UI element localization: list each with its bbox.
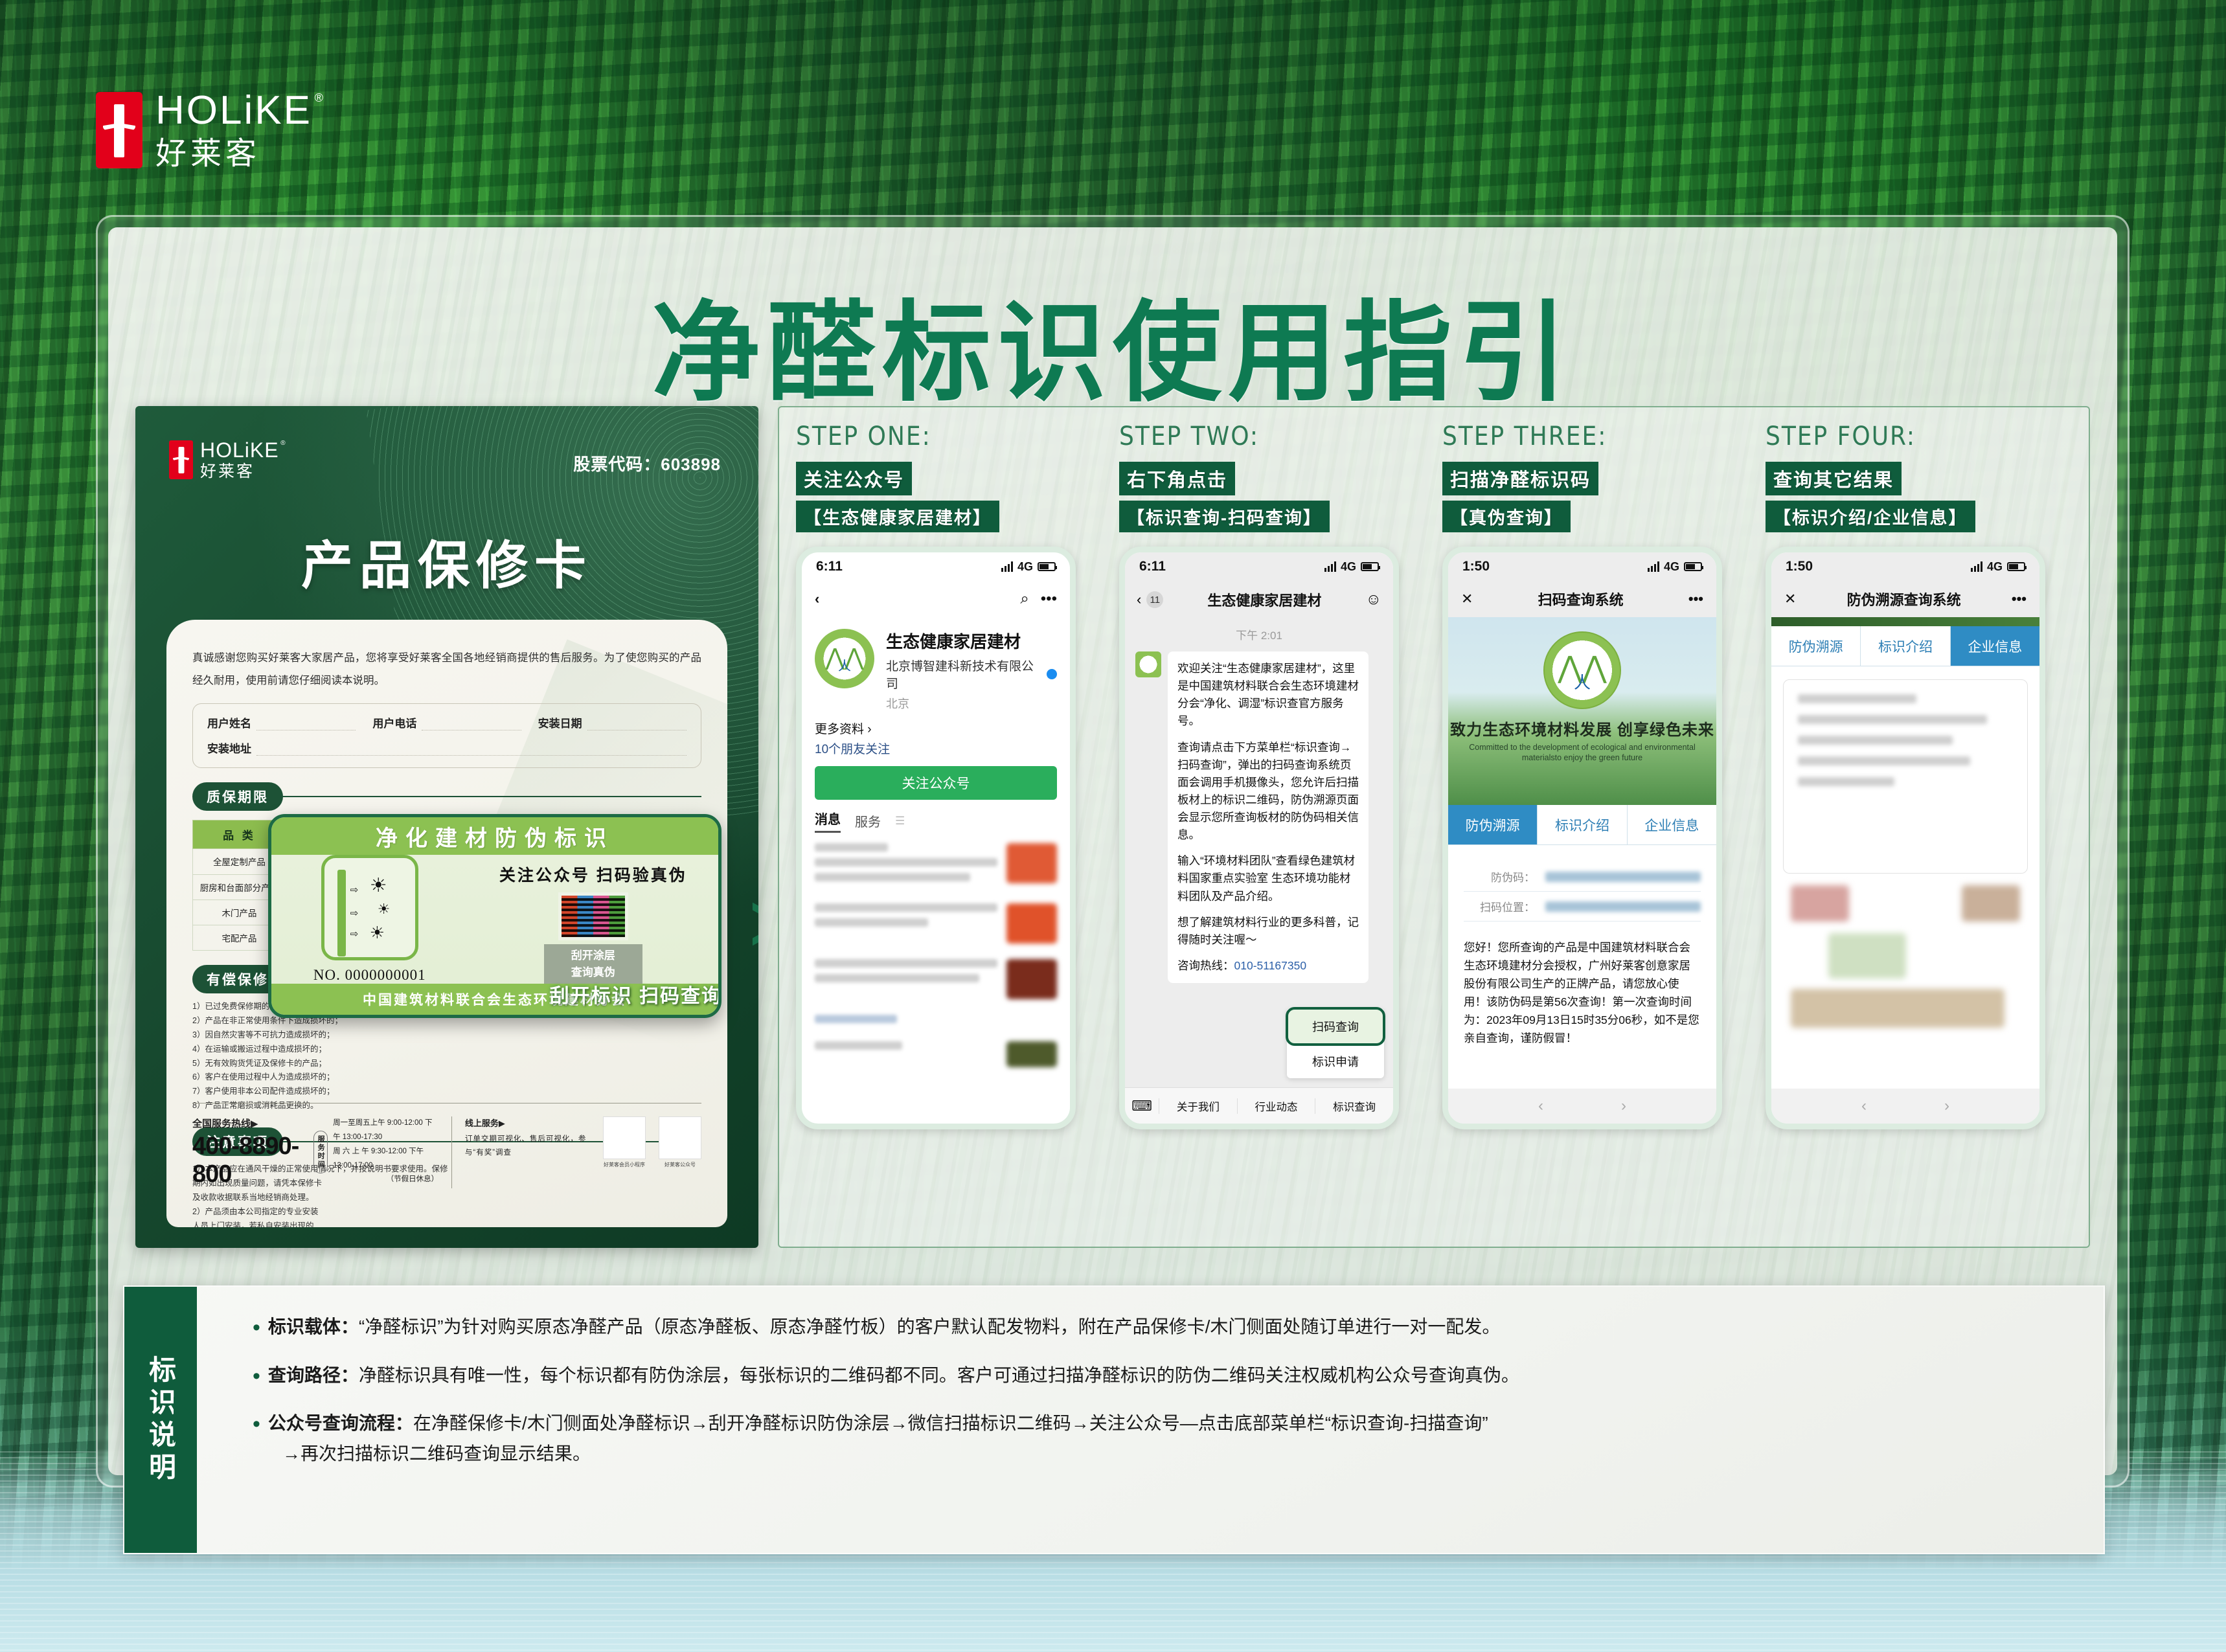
card-footer: 全国服务热线▶ 400-8890-800 服务时间 周一至周五上午 9:00-1… bbox=[192, 1103, 701, 1188]
steps-row: STEP ONE: 关注公众号 【生态健康家居建材】 6:11 4G bbox=[796, 422, 2072, 1129]
menu-popup: 扫码查询 标识申请 bbox=[1287, 1008, 1384, 1078]
list-item: 2）产品须由本公司指定的专业安装 bbox=[192, 1205, 701, 1219]
webview-tabs: 防伪溯源 标识介绍 企业信息 bbox=[1771, 626, 2039, 666]
tab-company-info[interactable]: 企业信息 bbox=[1628, 805, 1716, 844]
list-item: 人员上门安装，若私自安装出现的 bbox=[192, 1219, 701, 1227]
network-type: 4G bbox=[1987, 560, 2003, 574]
label-right: 关注公众号 扫码验真伪 刮开涂层 查询真伪 bbox=[468, 855, 718, 984]
unread-badge: 11 bbox=[1146, 591, 1163, 608]
card-registered-icon: ® bbox=[280, 440, 286, 447]
chevron-right-icon: › bbox=[867, 723, 871, 736]
query-result-text: 您好！您所查询的产品是中国建筑材料联合会生态环境建材分会授权，广州好莱客创意家居… bbox=[1448, 922, 1716, 1047]
scratch-hint-line2: 查询真伪 bbox=[544, 964, 642, 981]
card-brand-cn: 好莱客 bbox=[200, 464, 279, 480]
label-overlay-callout: 刮开标识 扫码查询 bbox=[550, 980, 721, 1008]
phone-screenshot-one: 6:11 4G ‹ ⌕ bbox=[796, 547, 1076, 1129]
qr-caption: 好莱客公众号 bbox=[659, 1161, 701, 1168]
hero-slogan-cn: 致力生态环境材料发展 创享绿色未来 bbox=[1450, 717, 1714, 740]
chat-nav-bar: ‹ 11 生态健康家居建材 ☺ bbox=[1125, 581, 1393, 618]
service-time-block: 服务时间 周一至周五上午 9:00-12:00 下午 13:00-17:30 周… bbox=[313, 1116, 438, 1187]
note-bold-label: 标识载体： bbox=[268, 1317, 359, 1337]
network-type: 4G bbox=[1664, 560, 1679, 574]
scratch-hint: 刮开涂层 查询真伪 bbox=[544, 944, 642, 984]
list-item: 3）因自然灾害等不可抗力造成损坏的； bbox=[192, 1028, 701, 1043]
step-three-tag-1: 扫描净醛标识码 bbox=[1442, 462, 1598, 495]
arrow-glyph-icon: ⇨ bbox=[350, 907, 359, 919]
step-two-tag-2: 【标识查询-扫码查询】 bbox=[1119, 501, 1330, 532]
list-item[interactable] bbox=[815, 903, 1057, 944]
label-explanation-body: • 标识载体：“净醛标识”为针对购买原态净醛产品（原态净醛板、原态净醛竹板）的客… bbox=[197, 1287, 2104, 1553]
phone-screenshot-three: 1:50 4G ✕ 扫码查询系统 ••• bbox=[1442, 547, 1722, 1129]
step-three-tag-2: 【真伪查询】 bbox=[1442, 501, 1571, 532]
label-qr-code-icon[interactable] bbox=[558, 892, 628, 940]
step-three: STEP THREE: 扫描净醛标识码 【真伪查询】 1:50 4G bbox=[1442, 422, 1749, 1129]
more-icon[interactable]: ••• bbox=[2012, 591, 2027, 607]
customer-field-box: 用户姓名 用户电话 安装日期 安装地址 bbox=[192, 703, 701, 768]
list-item[interactable] bbox=[815, 843, 1057, 888]
chat-timestamp: 下午 2:01 bbox=[1125, 618, 1393, 651]
steps-panel: STEP ONE: 关注公众号 【生态健康家居建材】 6:11 4G bbox=[778, 406, 2090, 1248]
tab-anticounterfeit-trace[interactable]: 防伪溯源 bbox=[1771, 626, 1861, 666]
section-warranty-title: 质保期限 bbox=[192, 782, 283, 811]
field-input-name[interactable] bbox=[256, 719, 356, 730]
warranty-intro: 真诚感谢您购买好莱客大家居产品，您将享受好莱客全国各地经销商提供的售后服务。为了… bbox=[192, 647, 701, 692]
back-icon[interactable]: ‹ bbox=[815, 591, 819, 607]
service-time-row: 周一至周五上午 9:00-12:00 下午 13:00-17:30 bbox=[333, 1116, 438, 1145]
step-four-tag-2: 【标识介绍/企业信息】 bbox=[1766, 501, 1975, 532]
qr-caption: 好莱客会员小程序 bbox=[603, 1161, 646, 1168]
note-item-flow: • 公众号查询流程：在净醛保修卡/木门侧面处净醛标识→刮开净醛标识防伪涂层→微信… bbox=[253, 1410, 2062, 1437]
sun-icon: ☀ bbox=[370, 924, 385, 941]
field-row-2: 安装地址 bbox=[207, 740, 687, 756]
network-type: 4G bbox=[1341, 560, 1356, 574]
note-item-flow-continued: →再次扫描标识二维码查询显示结果。 bbox=[282, 1440, 2062, 1465]
sun-icon: ☀ bbox=[378, 902, 391, 916]
flow-arrow-icon: ≫ bbox=[748, 898, 758, 948]
service-time-label: 服务时间 bbox=[313, 1131, 328, 1173]
field-input-address[interactable] bbox=[256, 745, 687, 756]
status-time: 1:50 bbox=[1786, 559, 1813, 574]
list-item: 7）客户使用非本公司配件造成损坏的； bbox=[192, 1085, 701, 1099]
bullet-icon: • bbox=[253, 1413, 260, 1435]
friends-following: 10个朋友关注 bbox=[802, 737, 1070, 757]
note-text: 净醛标识具有唯一性，每个标识都有防伪涂层，每张标识的二维码都不同。客户可通过扫描… bbox=[359, 1365, 1519, 1385]
qr-code-icon bbox=[603, 1116, 646, 1159]
step-four: STEP FOUR: 查询其它结果 【标识介绍/企业信息】 1:50 4G bbox=[1766, 422, 2072, 1129]
chat-paragraph-1: 欢迎关注“生态健康家居建材”，这里是中国建筑材料联合会生态环境建材分会“净化、调… bbox=[1177, 660, 1359, 730]
step-three-number: STEP THREE: bbox=[1442, 422, 1749, 451]
list-item[interactable] bbox=[815, 1041, 1057, 1067]
warranty-card-title: 产品保修卡 bbox=[135, 524, 758, 599]
note-bold-label: 查询路径： bbox=[268, 1365, 359, 1385]
step-one-number: STEP ONE: bbox=[796, 422, 1102, 451]
step-two-number: STEP TWO: bbox=[1119, 422, 1425, 451]
card-logo-mark bbox=[169, 440, 193, 479]
bullet-icon: • bbox=[253, 1317, 260, 1339]
more-info-label: 更多资料 bbox=[815, 723, 864, 736]
field-label-name: 用户姓名 bbox=[207, 714, 251, 730]
pager: ‹ › bbox=[1771, 1089, 2039, 1124]
step-one-tag-1: 关注公众号 bbox=[796, 462, 912, 495]
tab-messages[interactable]: 消息 bbox=[815, 809, 841, 833]
label-top-title: 净化建材防伪标识 bbox=[271, 817, 718, 855]
account-city: 北京 bbox=[886, 695, 1057, 712]
contact-icon[interactable]: ☺ bbox=[1365, 591, 1381, 609]
hotline-number: 400-8890-800 bbox=[192, 1133, 301, 1188]
holike-logo: HOLiKE® 好莱客 bbox=[96, 91, 312, 170]
verified-badge-icon bbox=[1047, 669, 1057, 679]
field-value-redacted bbox=[1545, 872, 1701, 882]
field-label-address: 安装地址 bbox=[207, 740, 251, 756]
note-item-path: • 查询路径：净醛标识具有唯一性，每个标识都有防伪涂层，每张标识的二维码都不同。… bbox=[253, 1363, 2062, 1389]
field-scan-location: 扫码位置： bbox=[1464, 892, 1701, 922]
chat-paragraph-3: 输入“环境材料团队”查看绿色建筑材料国家重点实验室 生态环境功能材料团队及产品介… bbox=[1177, 852, 1359, 905]
purification-icon: ⇨ ⇨ ⇨ ☀ ☀ ☀ bbox=[321, 855, 418, 960]
webview-nav-bar: ✕ 扫码查询系统 ••• bbox=[1448, 581, 1716, 617]
step-two-tag-1: 右下角点击 bbox=[1119, 462, 1235, 495]
status-bar: 1:50 4G bbox=[1771, 552, 2039, 581]
section-warranty-rule bbox=[282, 796, 701, 797]
service-time-row: 周 六 上 午 9:30-12:00 下午 13:00-17:00 bbox=[333, 1145, 438, 1173]
status-bar: 1:50 4G bbox=[1448, 552, 1716, 581]
hero-strip bbox=[1771, 617, 2039, 626]
card-holike-logo: HOLiKE® 好莱客 bbox=[169, 440, 279, 480]
field-anticounterfeit-code: 防伪码： bbox=[1464, 862, 1701, 892]
more-icon[interactable]: ••• bbox=[1041, 590, 1057, 608]
note-bold-label: 公众号查询流程： bbox=[268, 1413, 413, 1433]
icon-bar bbox=[337, 870, 346, 956]
message-feed bbox=[802, 833, 1070, 1093]
hotline-block: 全国服务热线▶ 400-8890-800 bbox=[192, 1116, 301, 1188]
label-tip: 关注公众号 扫码验真伪 bbox=[499, 863, 687, 886]
signal-icon bbox=[1324, 561, 1336, 572]
association-logo-icon: ⋀⋀ 人 bbox=[815, 629, 874, 688]
footer-divider bbox=[451, 1116, 452, 1188]
signal-icon bbox=[1648, 561, 1659, 572]
content-row: HOLiKE® 好莱客 股票代码：603898 产品保修卡 真诚感谢您购买好莱客… bbox=[135, 406, 2090, 1248]
label-left: ⇨ ⇨ ⇨ ☀ ☀ ☀ NO. 0000000001 bbox=[271, 855, 468, 984]
step-one: STEP ONE: 关注公众号 【生态健康家居建材】 6:11 4G bbox=[796, 422, 1102, 1129]
follow-button[interactable]: 关注公众号 bbox=[815, 766, 1057, 800]
company-info-card bbox=[1783, 679, 2028, 874]
account-name: 生态健康家居建材 bbox=[886, 629, 1057, 653]
bullet-icon: • bbox=[253, 1365, 260, 1387]
qr-code-icon bbox=[659, 1116, 701, 1159]
warranty-card: HOLiKE® 好莱客 股票代码：603898 产品保修卡 真诚感谢您购买好莱客… bbox=[135, 406, 758, 1248]
battery-icon bbox=[1361, 562, 1379, 571]
chat-title: 生态健康家居建材 bbox=[1207, 589, 1321, 610]
avatar bbox=[1135, 651, 1161, 677]
hero-banner: ⋀⋀ 人 致力生态环境材料发展 创享绿色未来 Committed to the … bbox=[1448, 617, 1716, 805]
association-logo-icon: ⋀⋀ 人 bbox=[1543, 631, 1621, 709]
step-two: STEP TWO: 右下角点击 【标识查询-扫码查询】 6:11 4G bbox=[1119, 422, 1425, 1129]
field-label-phone: 用户电话 bbox=[372, 714, 416, 730]
arrow-glyph-icon: ⇨ bbox=[350, 884, 359, 896]
note-text: “净醛标识”为针对购买原态净醛产品（原态净醛板、原态净醛竹板）的客户默认配发物料… bbox=[359, 1317, 1500, 1337]
qr-official-account[interactable]: 好莱客公众号 bbox=[659, 1116, 701, 1168]
note-text: 在净醛保修卡/木门侧面处净醛标识→刮开净醛标识防伪涂层→微信扫描标识二维码→关注… bbox=[413, 1413, 1488, 1433]
list-item: 5）无有效购货凭证及保修卡的产品； bbox=[192, 1057, 701, 1071]
online-service-desc: 订单交期可视化、售后可视化，参与“有奖”调查 bbox=[465, 1133, 590, 1160]
hotline-number[interactable]: 010-51167350 bbox=[1234, 959, 1307, 972]
nav-bar: ‹ ⌕ ••• bbox=[802, 581, 1070, 617]
chat-bottom-menu: ⌨ 关于我们 行业动态 标识查询 bbox=[1125, 1087, 1393, 1124]
page-title: 净醛标识使用指引 bbox=[108, 265, 2117, 422]
query-fields: 防伪码： 扫码位置： bbox=[1448, 845, 1716, 922]
menu-item-label-query[interactable]: 标识查询 bbox=[1315, 1098, 1393, 1114]
hotline-label: 全国服务热线▶ bbox=[192, 1116, 301, 1130]
chat-paragraph-2: 查询请点击下方菜单栏“标识查询→扫码查询”，弹出的扫码查询系统页面会调用手机摄像… bbox=[1177, 739, 1359, 844]
hero-slogan-en: Committed to the development of ecologic… bbox=[1448, 742, 1716, 764]
prev-page-icon[interactable]: ‹ bbox=[1538, 1097, 1543, 1115]
tab-label-intro[interactable]: 标识介绍 bbox=[1538, 805, 1627, 844]
chat-message-row: 欢迎关注“生态健康家居建材”，这里是中国建筑材料联合会生态环境建材分会“净化、调… bbox=[1125, 651, 1393, 983]
webview-tabs: 防伪溯源 标识介绍 企业信息 bbox=[1448, 805, 1716, 845]
status-time: 6:11 bbox=[1139, 559, 1166, 574]
tab-services[interactable]: 服务 bbox=[855, 811, 881, 830]
account-header: ⋀⋀ 人 生态健康家居建材 北京博智建科新技术有限公司 北京 bbox=[802, 617, 1070, 712]
step-four-tag-1: 查询其它结果 bbox=[1766, 462, 1902, 495]
label-middle: ⇨ ⇨ ⇨ ☀ ☀ ☀ NO. 0000000001 关注公众号 扫码验真伪 bbox=[271, 855, 718, 984]
popup-item-scan-query[interactable]: 扫码查询 bbox=[1286, 1007, 1385, 1046]
sun-icon: ☀ bbox=[370, 876, 387, 896]
step-four-number: STEP FOUR: bbox=[1766, 422, 2072, 451]
tab-company-info[interactable]: 企业信息 bbox=[1951, 626, 2039, 666]
field-value-redacted bbox=[1545, 901, 1701, 912]
back-button[interactable]: ‹ 11 bbox=[1137, 591, 1163, 608]
tab-label-intro[interactable]: 标识介绍 bbox=[1861, 626, 1950, 666]
search-icon[interactable]: ⌕ bbox=[1020, 590, 1028, 608]
status-time: 6:11 bbox=[816, 559, 843, 574]
network-type: 4G bbox=[1017, 560, 1033, 574]
field-input-date[interactable] bbox=[587, 719, 687, 730]
close-icon[interactable]: ✕ bbox=[1784, 591, 1796, 607]
field-input-phone[interactable] bbox=[422, 719, 521, 730]
phone-screenshot-four: 1:50 4G ✕ 防伪溯源查询系统 ••• bbox=[1766, 547, 2045, 1129]
note-item-carrier: • 标识载体：“净醛标识”为针对购买原态净醛产品（原态净醛板、原态净醛竹板）的客… bbox=[253, 1314, 2062, 1341]
label-serial-number: NO. 0000000001 bbox=[313, 967, 426, 984]
label-explanation-bar: 标识说明 • 标识载体：“净醛标识”为针对购买原态净醛产品（原态净醛板、原态净醛… bbox=[123, 1285, 2105, 1554]
anti-counterfeit-label: 净化建材防伪标识 ⇨ ⇨ ⇨ ☀ ☀ ☀ bbox=[268, 814, 721, 1018]
battery-icon bbox=[2007, 562, 2025, 571]
phone-screenshot-two: 6:11 4G ‹ 11 生态健康家居建材 bbox=[1119, 547, 1399, 1129]
label-explanation-tab: 标识说明 bbox=[124, 1287, 197, 1553]
chat-paragraph-4: 想了解建筑材料行业的更多科普，记得随时关注喔～ bbox=[1177, 914, 1359, 949]
section-warranty-header: 质保期限 bbox=[192, 782, 701, 811]
arrow-glyph-icon: ⇨ bbox=[350, 928, 359, 940]
list-item[interactable] bbox=[815, 959, 1057, 999]
status-time: 1:50 bbox=[1462, 559, 1490, 574]
tab-anticounterfeit-trace[interactable]: 防伪溯源 bbox=[1448, 805, 1538, 844]
menu-item-about-us[interactable]: 关于我们 bbox=[1159, 1098, 1237, 1114]
hotline-label: 咨询热线： bbox=[1177, 959, 1234, 972]
card-brand-en: HOLiKE bbox=[200, 438, 279, 462]
brand-en: HOLiKE bbox=[155, 88, 312, 133]
online-service-label: 线上服务▶ bbox=[465, 1116, 590, 1129]
webview-title: 防伪溯源查询系统 bbox=[1847, 589, 1961, 609]
person-icon: 人 bbox=[838, 655, 851, 674]
chat-background: ‹ 11 生态健康家居建材 ☺ 下午 2:01 欢迎关注“生态健康家居建材”，这… bbox=[1125, 581, 1393, 1124]
field-row-1: 用户姓名 用户电话 安装日期 bbox=[207, 714, 687, 730]
close-icon[interactable]: ✕ bbox=[1461, 591, 1473, 607]
more-info-link[interactable]: 更多资料 › bbox=[802, 712, 1070, 737]
keyboard-icon[interactable]: ⌨ bbox=[1125, 1098, 1159, 1115]
holike-logo-text: HOLiKE® 好莱客 bbox=[155, 91, 312, 170]
scratch-hint-line1: 刮开涂层 bbox=[544, 947, 642, 964]
menu-icon[interactable]: ☰ bbox=[895, 815, 905, 828]
brand-cn: 好莱客 bbox=[155, 139, 312, 170]
list-item: 及收款收据联系当地经销商处理。 bbox=[192, 1191, 701, 1205]
pager: ‹ › bbox=[1448, 1089, 1716, 1124]
battery-icon bbox=[1684, 562, 1702, 571]
signal-icon bbox=[1001, 561, 1013, 572]
account-tabs: 消息 服务 ☰ bbox=[802, 800, 1070, 833]
webview-title: 扫码查询系统 bbox=[1538, 589, 1624, 609]
more-icon[interactable]: ••• bbox=[1688, 591, 1703, 607]
holike-logo-mark bbox=[96, 92, 142, 168]
registered-icon: ® bbox=[315, 92, 325, 104]
webview-nav-bar: ✕ 防伪溯源查询系统 ••• bbox=[1771, 581, 2039, 617]
account-company: 北京博智建科新技术有限公司 bbox=[886, 657, 1042, 692]
prev-page-icon[interactable]: ‹ bbox=[1861, 1097, 1867, 1115]
field-label-date: 安装日期 bbox=[538, 714, 582, 730]
field-label: 扫码位置： bbox=[1464, 898, 1535, 914]
online-service-block: 线上服务▶ 订单交期可视化、售后可视化，参与“有奖”调查 bbox=[465, 1116, 590, 1160]
list-item: 6）客户在使用过程中人为造成损坏的； bbox=[192, 1070, 701, 1085]
chat-bubble: 欢迎关注“生态健康家居建材”，这里是中国建筑材料联合会生态环境建材分会“净化、调… bbox=[1168, 651, 1369, 983]
qr-miniprogram[interactable]: 好莱客会员小程序 bbox=[603, 1116, 646, 1168]
menu-item-industry-news[interactable]: 行业动态 bbox=[1237, 1098, 1315, 1114]
status-bar: 6:11 4G bbox=[1125, 552, 1393, 581]
step-one-tag-2: 【生态健康家居建材】 bbox=[796, 501, 999, 532]
next-page-icon[interactable]: › bbox=[1944, 1097, 1949, 1115]
signal-icon bbox=[1971, 561, 1982, 572]
battery-icon bbox=[1038, 562, 1056, 571]
status-bar: 6:11 4G bbox=[802, 552, 1070, 581]
next-page-icon[interactable]: › bbox=[1621, 1097, 1626, 1115]
stock-code: 股票代码：603898 bbox=[573, 451, 721, 475]
person-icon: 人 bbox=[1574, 670, 1591, 694]
list-item: 4）在运输或搬运过程中造成损坏的； bbox=[192, 1043, 701, 1057]
company-info-images bbox=[1783, 885, 2028, 1034]
popup-item-label-apply[interactable]: 标识申请 bbox=[1287, 1045, 1384, 1078]
service-time-row: （节假日休息） bbox=[333, 1173, 438, 1187]
field-label: 防伪码： bbox=[1464, 868, 1535, 885]
